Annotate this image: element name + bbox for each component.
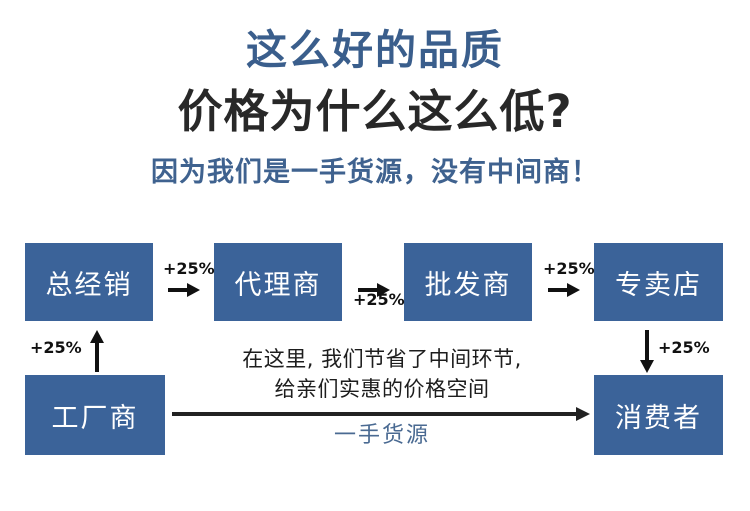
arrow-head [90,330,104,343]
flow-node-agent: 代理商 [214,243,342,321]
promo-graphic: 这么好的品质 价格为什么这么低? 因为我们是一手货源，没有中间商！ 总经销 代理… [0,0,750,511]
arrow-head [567,283,580,297]
savings-caption: 在这里, 我们节省了中间环节, 给亲们实惠的价格空间 [172,344,592,404]
markup-label-step2: +25% [353,290,405,309]
flow-node-general-distributor: 总经销 [25,243,153,321]
flow-node-factory: 工厂商 [25,375,165,455]
savings-caption-line2: 给亲们实惠的价格空间 [172,374,592,404]
flow-node-specialty-store: 专卖店 [594,243,723,321]
arrow-head [576,407,590,421]
arrow-shaft [645,330,649,362]
direct-source-label: 一手货源 [172,420,592,452]
markup-label-store-to-consumer: +25% [658,338,710,357]
savings-caption-line1: 在这里, 我们节省了中间环节, [242,347,522,371]
headline-primary: 这么好的品质 [0,26,750,74]
arrow-shaft [95,340,99,372]
markup-label-step3: +25% [543,259,595,278]
subheadline: 因为我们是一手货源，没有中间商！ [0,156,750,190]
arrow-head [640,360,654,373]
headline-secondary: 价格为什么这么低? [0,85,750,139]
arrow-head [187,283,200,297]
arrow-shaft [172,412,578,416]
markup-label-step1: +25% [163,259,215,278]
flow-node-consumer: 消费者 [594,375,723,455]
markup-label-factory-to-distributor: +25% [30,338,82,357]
flow-node-wholesaler: 批发商 [404,243,532,321]
